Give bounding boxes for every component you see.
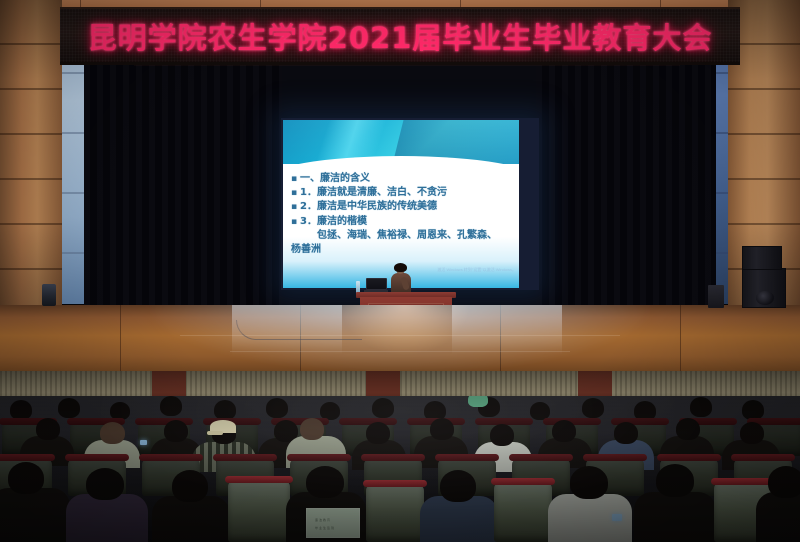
stage-cable [236,320,362,340]
audience-head [300,418,324,440]
slide-bullet-icon: ▪ [291,216,300,229]
seat [366,484,424,542]
slide-line-text: 一、廉洁的含义 [300,173,370,184]
audience-head [214,400,236,420]
slide-line-text: 3．廉洁的楷模 [300,216,367,227]
slide-line: ▪1．廉洁就是清廉、洁白、不贪污 [291,186,513,200]
laptop-screen [366,278,387,290]
audience-torso [0,488,70,542]
audience-head [614,422,638,444]
green-hat [468,396,488,407]
audience-head [570,466,608,499]
handout-paper: 廉洁教育 毕业生签到 [306,508,360,538]
audience-head [582,398,604,418]
baseball-cap [210,420,236,433]
slide-line: ▪2．廉洁是中华民族的传统美德 [291,200,513,214]
audience-torso [756,492,800,542]
slide-line: ▪一、廉洁的含义 [291,172,513,186]
audience-head [690,397,712,417]
audience-head [306,466,344,498]
phone-screen-glow [612,514,622,521]
audience-head [430,418,454,440]
audience-head [164,420,188,442]
audience-head [10,400,32,420]
floor-monitor-speaker-right [708,285,724,308]
slide-line: 包拯、海瑞、焦裕禄、周恩来、孔繁森、 [291,229,513,243]
audience-head [372,398,394,418]
phone-screen-glow [140,440,147,445]
audience-head [8,462,44,494]
led-banner-text: 昆明学院农生学院2021届毕业生毕业教育大会 [60,15,740,57]
audience-torso [420,496,498,542]
floor-monitor-speaker-left [42,284,56,306]
auditorium-scene: 昆明学院农生学院2021届毕业生毕业教育大会 ▪一、廉洁的含义 ▪1．廉洁就是清… [0,0,800,542]
slide-bullet-icon: ▪ [291,187,300,200]
slide-line-text: 包拯、海瑞、焦裕禄、周恩来、孔繁森、 [317,230,497,241]
slide-line-text: 2．廉洁是中华民族的传统美德 [300,201,437,212]
seat [228,480,290,542]
audience-head [676,418,700,440]
audience-head [768,466,800,498]
audience-torso [66,494,148,542]
pa-speaker-top-right [742,268,786,308]
audience-head [58,398,80,418]
pa-speaker-upper-right [742,246,782,270]
seat [494,482,552,542]
audience-head [160,396,182,416]
slide-line: 杨善洲 [291,243,513,257]
audience-head [440,470,476,502]
slide-bullet-icon: ▪ [291,201,300,214]
audience-head [366,422,390,444]
slide-line-text: 杨善洲 [291,244,321,255]
audience-torso [634,492,716,542]
audience-torso [152,496,230,542]
laptop [364,278,388,293]
audience-head [36,418,60,440]
audience-head [266,398,288,418]
audience-head [740,422,764,444]
audience-head [742,400,764,420]
audience-area: 廉洁教育 毕业生签到 [0,396,800,542]
presenter [390,264,412,294]
audience-head [86,468,124,500]
slide-bullet-icon: ▪ [291,173,300,186]
slide-line: ▪3．廉洁的楷模 [291,215,513,229]
audience-head [100,422,125,444]
presenter-hair [394,263,407,272]
audience-head [490,424,514,446]
led-banner: 昆明学院农生学院2021届毕业生毕业教育大会 [60,7,740,65]
slide-line-text: 1．廉洁就是清廉、洁白、不贪污 [300,187,447,198]
audience-head [172,470,208,502]
windows-activation-watermark: 激活 Windows 转到"设置"以激活 Windows。 [437,267,516,272]
audience-head [552,420,576,442]
audience-head [656,464,694,497]
